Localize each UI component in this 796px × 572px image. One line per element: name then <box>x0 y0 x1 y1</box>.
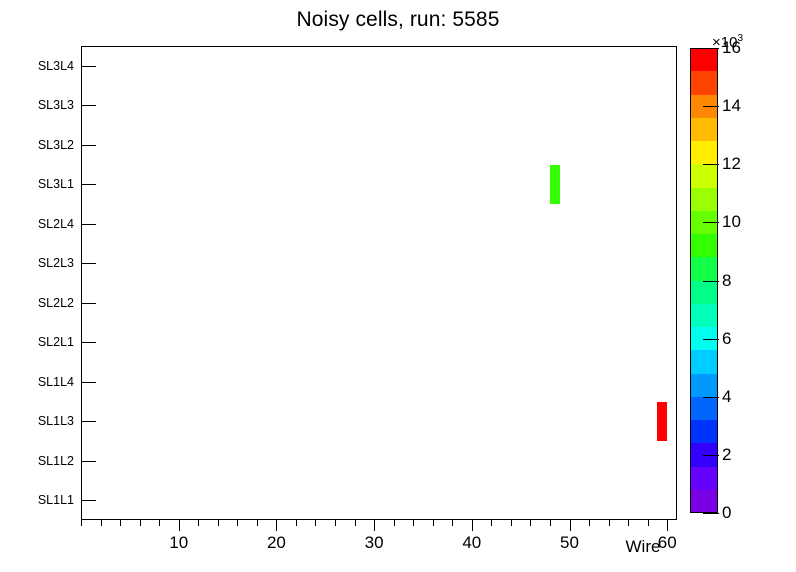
colorbar-tick-label: 8 <box>722 272 731 289</box>
y-axis-tick-mark <box>81 461 96 462</box>
colorbar-band <box>690 118 718 141</box>
colorbar-tick-label: 0 <box>722 504 731 521</box>
colorbar-band <box>690 490 718 513</box>
y-axis-tick-mark <box>81 105 96 106</box>
colorbar-band <box>690 71 718 94</box>
heatmap-cell <box>657 402 667 442</box>
y-axis-tick-label: SL3L4 <box>14 60 74 72</box>
colorbar-tick-label: 4 <box>722 388 731 405</box>
x-axis-minor-tick <box>589 520 590 526</box>
colorbar-band <box>690 188 718 211</box>
colorbar-band <box>690 281 718 304</box>
y-axis-tick-mark <box>81 66 96 67</box>
y-axis-tick-mark <box>81 382 96 383</box>
x-axis-minor-tick <box>335 520 336 526</box>
y-axis-tick-label: SL3L1 <box>14 178 74 190</box>
colorbar-tick-mark <box>703 164 719 165</box>
x-axis-minor-tick <box>218 520 219 526</box>
y-axis-tick-mark <box>81 421 96 422</box>
x-axis-minor-tick <box>198 520 199 526</box>
x-axis-minor-tick <box>550 520 551 526</box>
y-axis-tick-label: SL1L2 <box>14 455 74 467</box>
x-axis-tick-mark <box>276 520 277 531</box>
colorbar-band <box>690 234 718 257</box>
x-axis-minor-tick <box>530 520 531 526</box>
page-title: Noisy cells, run: 5585 <box>0 8 796 32</box>
heatmap-cell <box>550 165 560 205</box>
x-axis-tick-label: 30 <box>344 533 404 553</box>
colorbar-band <box>690 141 718 164</box>
x-axis-minor-tick <box>433 520 434 526</box>
x-axis-tick-label: 50 <box>540 533 600 553</box>
x-axis-minor-tick <box>355 520 356 526</box>
colorbar-band <box>690 397 718 420</box>
colorbar-band <box>690 420 718 443</box>
x-axis-tick-mark <box>374 520 375 531</box>
colorbar-tick-label: 2 <box>722 446 731 463</box>
colorbar-tick-label: 14 <box>722 97 741 114</box>
colorbar-tick-label: 12 <box>722 155 741 172</box>
y-axis-tick-mark <box>81 303 96 304</box>
colorbar-tick-label: 6 <box>722 330 731 347</box>
colorbar-band <box>690 467 718 490</box>
x-axis-minor-tick <box>609 520 610 526</box>
colorbar-tick-mark <box>703 106 719 107</box>
y-axis-tick-label: SL2L1 <box>14 336 74 348</box>
y-axis-tick-mark <box>81 145 96 146</box>
x-axis-minor-tick <box>120 520 121 526</box>
y-axis-tick-mark <box>81 224 96 225</box>
x-axis-title: Wire <box>598 537 688 557</box>
y-axis-tick-mark <box>81 263 96 264</box>
y-axis-tick-label: SL1L4 <box>14 376 74 388</box>
x-axis-tick-mark <box>667 520 668 531</box>
y-axis-tick-label: SL2L2 <box>14 297 74 309</box>
root-canvas: Noisy cells, run: 5585 SL1L1SL1L2SL1L3SL… <box>0 0 796 572</box>
colorbar-band <box>690 164 718 187</box>
x-axis-minor-tick <box>628 520 629 526</box>
y-axis-tick-label: SL1L3 <box>14 415 74 427</box>
x-axis-tick-mark <box>472 520 473 531</box>
y-axis-tick-label: SL1L1 <box>14 494 74 506</box>
plot-area <box>81 46 677 520</box>
colorbar-tick-mark <box>703 339 719 340</box>
x-axis-minor-tick <box>491 520 492 526</box>
colorbar-tick-mark <box>703 455 719 456</box>
x-axis-minor-tick <box>511 520 512 526</box>
x-axis-tick-label: 10 <box>149 533 209 553</box>
x-axis-minor-tick <box>413 520 414 526</box>
x-axis-minor-tick <box>159 520 160 526</box>
colorbar-tick-label: 10 <box>722 213 741 230</box>
x-axis-minor-tick <box>140 520 141 526</box>
colorbar-tick-mark <box>703 281 719 282</box>
colorbar-tick-mark <box>703 397 719 398</box>
x-axis-minor-tick <box>257 520 258 526</box>
y-axis-tick-label: SL3L2 <box>14 139 74 151</box>
y-axis-tick-label: SL2L4 <box>14 218 74 230</box>
x-axis-minor-tick <box>81 520 82 526</box>
colorbar-multiplier: ×103 <box>712 33 743 51</box>
x-axis-tick-mark <box>570 520 571 531</box>
colorbar-band <box>690 304 718 327</box>
x-axis-tick-label: 20 <box>246 533 306 553</box>
colorbar-band <box>690 48 718 71</box>
x-axis-minor-tick <box>648 520 649 526</box>
y-axis-tick-mark <box>81 500 96 501</box>
colorbar-band <box>690 374 718 397</box>
x-axis-minor-tick <box>296 520 297 526</box>
x-axis-minor-tick <box>452 520 453 526</box>
colorbar-band <box>690 257 718 280</box>
colorbar-multiplier-base: ×10 <box>712 34 737 51</box>
x-axis-tick-label: 40 <box>442 533 502 553</box>
x-axis-minor-tick <box>101 520 102 526</box>
x-axis-minor-tick <box>394 520 395 526</box>
y-axis-labels: SL1L1SL1L2SL1L3SL1L4SL2L1SL2L2SL2L3SL2L4… <box>8 0 74 572</box>
x-axis-tick-mark <box>179 520 180 531</box>
colorbar-tick-mark <box>703 513 719 514</box>
y-axis-tick-label: SL2L3 <box>14 257 74 269</box>
colorbar-band <box>690 350 718 373</box>
x-axis-minor-tick <box>315 520 316 526</box>
y-axis-tick-mark <box>81 342 96 343</box>
y-axis-tick-label: SL3L3 <box>14 99 74 111</box>
x-axis-minor-tick <box>237 520 238 526</box>
y-axis-tick-mark <box>81 184 96 185</box>
colorbar-multiplier-exponent: 3 <box>737 33 743 44</box>
colorbar-tick-mark <box>703 222 719 223</box>
